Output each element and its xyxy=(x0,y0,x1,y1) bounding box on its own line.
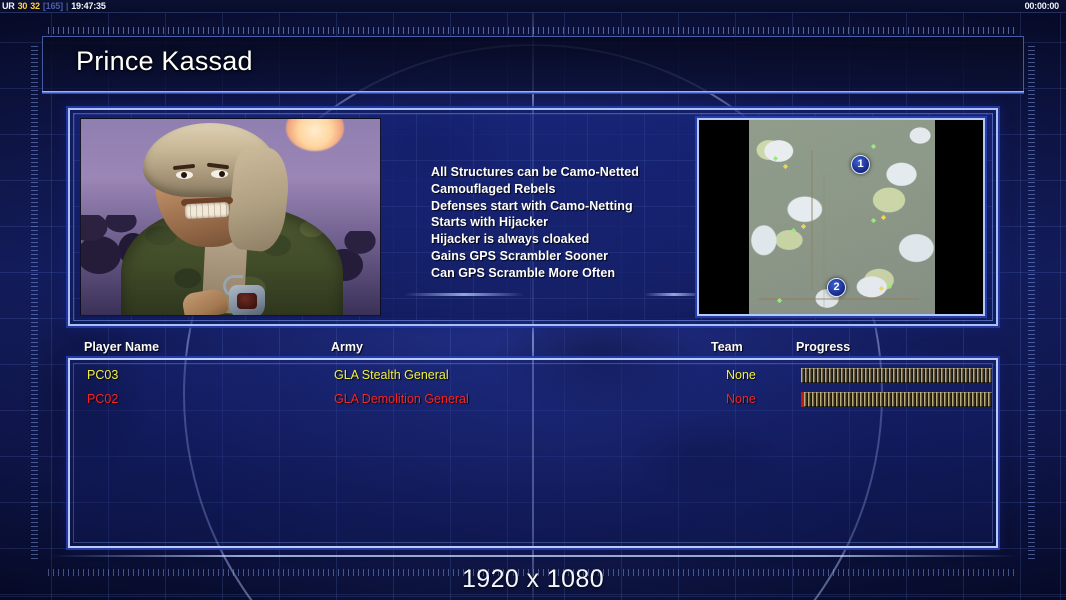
map-terrain: 1 2 xyxy=(749,120,935,314)
table-row: PC02 GLA Demolition General None xyxy=(74,388,992,412)
system-clock: 19:47:35 xyxy=(71,1,105,11)
header-team: Team xyxy=(711,340,743,354)
player-army: GLA Demolition General xyxy=(334,392,469,406)
header-player-name: Player Name xyxy=(84,340,159,354)
ability-item: Can GPS Scramble More Often xyxy=(431,265,731,282)
footer-divider xyxy=(50,555,1016,557)
supply-marker xyxy=(871,144,876,149)
general-info-inner: All Structures can be Camo-Netted Camouf… xyxy=(73,113,993,321)
map-road-vertical xyxy=(811,150,813,290)
progress-bar-fill xyxy=(804,392,993,407)
map-road-horizontal xyxy=(759,298,919,300)
tea-cup xyxy=(229,285,265,316)
debug-value-2: 32 xyxy=(30,1,40,11)
supply-marker xyxy=(881,215,886,220)
supply-marker xyxy=(783,164,788,169)
frame-ruler-top xyxy=(48,27,1018,34)
supply-marker xyxy=(791,228,796,233)
player-army: GLA Stealth General xyxy=(334,368,449,382)
header-progress: Progress xyxy=(796,340,850,354)
start-position-marker: 2 xyxy=(827,278,846,297)
ability-item: Camouflaged Rebels xyxy=(431,181,731,198)
debug-bracket: [165] xyxy=(43,1,63,11)
supply-marker xyxy=(773,156,778,161)
player-name: PC03 xyxy=(87,368,118,382)
header-bar: Prince Kassad xyxy=(42,36,1024,91)
ability-item: Starts with Hijacker xyxy=(431,214,731,231)
debug-value-1: 30 xyxy=(18,1,28,11)
start-position-marker: 1 xyxy=(851,155,870,174)
supply-marker xyxy=(801,224,806,229)
pupil-right xyxy=(219,171,225,177)
loading-screen: UR 30 32 [165] | 19:47:35 00:00:00 Princ… xyxy=(0,0,1066,600)
game-timer: 00:00:00 xyxy=(1025,1,1066,11)
player-team: None xyxy=(726,392,756,406)
ability-list: All Structures can be Camo-Netted Camouf… xyxy=(431,164,731,282)
player-list-inner: PC03 GLA Stealth General None PC02 GLA D… xyxy=(73,363,993,543)
accent-bar-right xyxy=(644,293,704,296)
accent-bar-left xyxy=(404,293,524,296)
ability-item: Defenses start with Camo-Netting xyxy=(431,198,731,215)
map-preview: 1 2 xyxy=(697,118,985,316)
player-list-panel: PC03 GLA Stealth General None PC02 GLA D… xyxy=(68,358,998,548)
progress-bar-fill xyxy=(801,368,993,383)
resolution-label: 1920 x 1080 xyxy=(0,565,1066,594)
player-team: None xyxy=(726,368,756,382)
pupil-left xyxy=(181,172,187,178)
ability-item: Gains GPS Scrambler Sooner xyxy=(431,248,731,265)
top-status-bar: UR 30 32 [165] | 19:47:35 00:00:00 xyxy=(0,0,1066,13)
supply-marker xyxy=(887,284,892,289)
prince-kassad-portrait xyxy=(80,118,381,316)
teeth xyxy=(185,202,230,219)
debug-readout: UR 30 32 [165] | 19:47:35 xyxy=(0,1,106,11)
progress-bar-container xyxy=(801,392,993,407)
debug-label: UR xyxy=(2,1,15,11)
header-army: Army xyxy=(331,340,363,354)
progress-bar-container xyxy=(801,368,993,383)
general-info-panel: All Structures can be Camo-Netted Camouf… xyxy=(68,108,998,326)
ability-item: Hijacker is always cloaked xyxy=(431,231,731,248)
frame-ruler-left xyxy=(31,46,38,560)
page-title: Prince Kassad xyxy=(76,46,253,77)
player-list-headers: Player Name Army Team Progress xyxy=(68,340,998,358)
frame-ruler-right xyxy=(1028,46,1035,560)
sun-icon xyxy=(286,118,344,151)
supply-marker xyxy=(879,286,884,291)
player-name: PC02 xyxy=(87,392,118,406)
debug-separator: | xyxy=(66,1,68,11)
table-row: PC03 GLA Stealth General None xyxy=(74,364,992,388)
ability-item: All Structures can be Camo-Netted xyxy=(431,164,731,181)
supply-marker xyxy=(871,218,876,223)
